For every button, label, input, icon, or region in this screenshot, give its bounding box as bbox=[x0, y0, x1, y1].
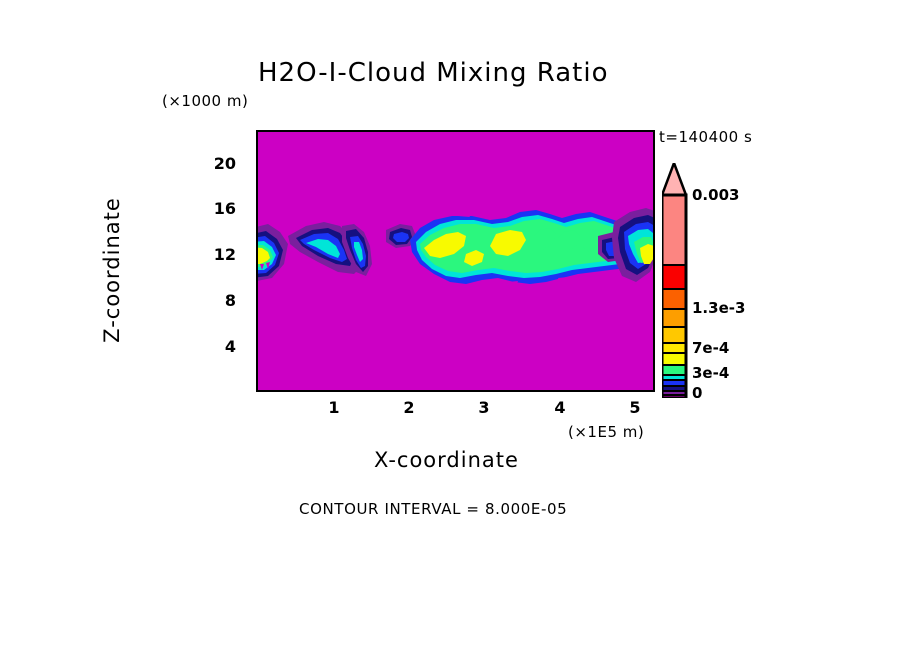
x-axis-title: X-coordinate bbox=[374, 448, 519, 472]
figure-canvas: H2O-I-Cloud Mixing Ratio (×1000 m) t=140… bbox=[0, 0, 904, 654]
page-title: H2O-I-Cloud Mixing Ratio bbox=[258, 58, 609, 88]
x-tick-label: 2 bbox=[394, 398, 424, 417]
contour-plot-field[interactable] bbox=[256, 130, 655, 392]
colorbar-svg bbox=[662, 163, 692, 398]
colorbar-label-max: 0.003 bbox=[692, 186, 739, 204]
colorbar-segments bbox=[662, 195, 686, 398]
colorbar[interactable] bbox=[662, 163, 692, 398]
x-tick-label: 1 bbox=[319, 398, 349, 417]
colorbar-label-7e4: 7e-4 bbox=[692, 339, 729, 357]
contour-svg bbox=[258, 132, 653, 390]
y-axis-unit-label: (×1000 m) bbox=[162, 92, 248, 110]
x-tick-label: 4 bbox=[545, 398, 575, 417]
y-axis-title: Z-coordinate bbox=[100, 140, 124, 400]
colorbar-label-1p3e3: 1.3e-3 bbox=[692, 299, 745, 317]
time-annotation: t=140400 s bbox=[659, 128, 752, 146]
y-tick-label: 16 bbox=[196, 199, 236, 218]
x-tick-label: 5 bbox=[620, 398, 650, 417]
x-axis-unit-label: (×1E5 m) bbox=[568, 423, 644, 441]
colorbar-label-3e4: 3e-4 bbox=[692, 364, 729, 382]
y-tick-label: 12 bbox=[196, 245, 236, 264]
contour-interval-note: CONTOUR INTERVAL = 8.000E-05 bbox=[299, 500, 567, 518]
colorbar-label-zero: 0 bbox=[692, 384, 702, 402]
x-tick-label: 3 bbox=[469, 398, 499, 417]
y-tick-label: 20 bbox=[196, 154, 236, 173]
y-tick-label: 8 bbox=[196, 291, 236, 310]
y-tick-label: 4 bbox=[196, 337, 236, 356]
colorbar-arrow-tip bbox=[662, 163, 686, 195]
